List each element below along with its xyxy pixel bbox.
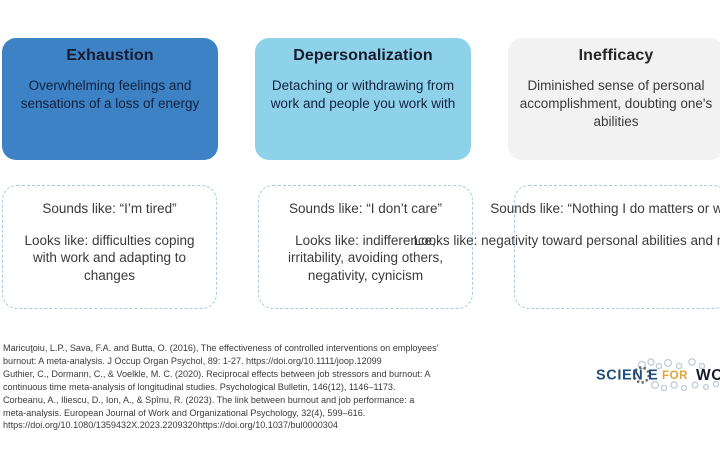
card-exhaustion: Exhaustion Overwhelming feelings and sen… [2, 38, 218, 160]
reference-line: Corbeanu, A., Iliescu, D., Ion, A., & Sp… [3, 394, 603, 407]
logo-word-work: WOR [696, 367, 720, 384]
card-description: Diminished sense of personal accomplishm… [518, 77, 714, 130]
card-title: Depersonalization [293, 47, 433, 65]
reference-line: Maricuţoiu, L.P., Sava, F.A. and Butta, … [3, 342, 603, 355]
logo-word-science-tail: E [648, 368, 658, 384]
burnout-symptom-boxes: Sounds like: “I’m tired” Looks like: dif… [0, 185, 720, 309]
card-description: Overwhelming feelings and sensations of … [12, 77, 208, 113]
reference-line: https://doi.org/10.1080/1359432X.2023.22… [3, 419, 603, 432]
science-for-work-logo: SCIEN E FOR WOR [596, 357, 720, 397]
reference-line: Guthier, C., Dormann, C., & Voelkle, M. … [3, 368, 603, 381]
sounds-like-text: Sounds like: “I don’t care” [289, 200, 442, 218]
card-inefficacy: Inefficacy Diminished sense of personal … [508, 38, 720, 160]
card-description: Detaching or withdrawing from work and p… [265, 77, 461, 113]
detail-box-inefficacy: Sounds like: “Nothing I do matters or wo… [514, 185, 720, 309]
looks-like-text: Looks like: negativity toward personal a… [414, 232, 720, 250]
burnout-dimension-cards: Exhaustion Overwhelming feelings and sen… [0, 38, 720, 160]
sounds-like-text: Sounds like: “I’m tired” [42, 200, 176, 218]
card-depersonalization: Depersonalization Detaching or withdrawi… [255, 38, 471, 160]
card-title: Exhaustion [66, 47, 153, 65]
references-block: Maricuţoiu, L.P., Sava, F.A. and Butta, … [3, 342, 603, 432]
reference-line: continuous time meta-analysis of longitu… [3, 381, 603, 394]
card-title: Inefficacy [579, 47, 654, 65]
reference-line: burnout: A meta-analysis. J Occup Organ … [3, 355, 603, 368]
detail-box-exhaustion: Sounds like: “I’m tired” Looks like: dif… [2, 185, 217, 309]
sounds-like-text: Sounds like: “Nothing I do matters or wo… [490, 200, 720, 218]
reference-line: meta-analysis. European Journal of Work … [3, 407, 603, 420]
logo-word-science: SCIEN [596, 368, 643, 384]
looks-like-text: Looks like: difficulties coping with wor… [11, 232, 208, 285]
logo-word-for: FOR [662, 370, 688, 382]
